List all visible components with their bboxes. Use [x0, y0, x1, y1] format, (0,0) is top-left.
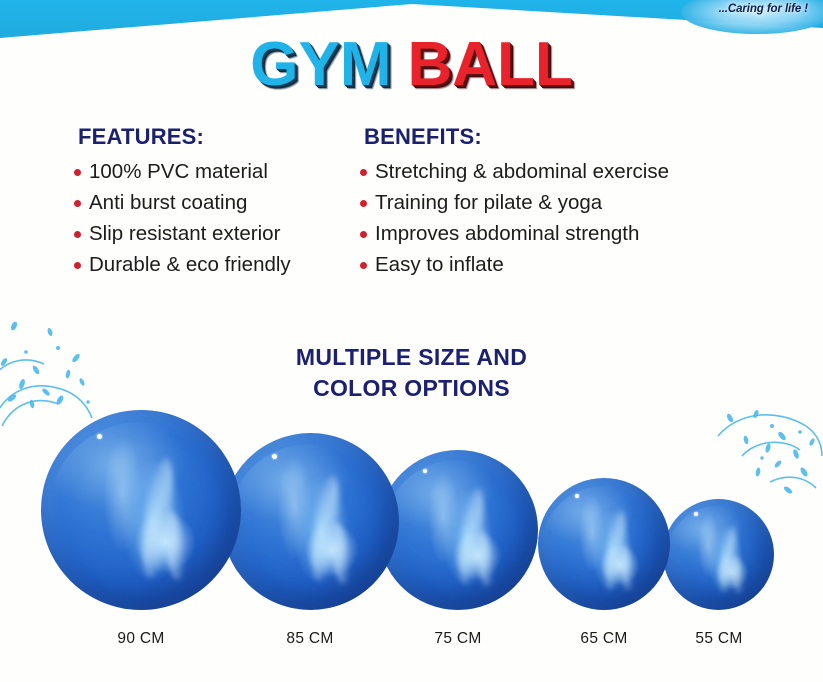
list-item: Anti burst coating: [72, 187, 340, 218]
gym-ball-85cm: [222, 433, 399, 610]
ball-highlight-streak: [730, 554, 744, 593]
gym-ball-poster: ...Caring for life ! GYMBALL FEATURES: 1…: [0, 0, 823, 682]
gym-ball-90cm: [41, 410, 241, 610]
ball-highlight-streak: [474, 529, 495, 586]
benefits-heading: BENEFITS:: [364, 124, 810, 150]
ball-valve-dot: [575, 494, 579, 498]
ball-highlight-streak: [329, 521, 351, 584]
benefits-column: BENEFITS: Stretching & abdominal exercis…: [340, 124, 810, 281]
size-heading-line-1: MULTIPLE SIZE AND: [0, 342, 823, 373]
ball-rim-light: [543, 486, 664, 602]
list-item: Slip resistant exterior: [72, 218, 340, 249]
ball-highlight-streak: [161, 509, 186, 580]
ball-valve-dot: [97, 434, 102, 439]
ball-rim-light: [229, 444, 392, 600]
ball-highlight-streak: [455, 487, 489, 585]
size-label-75cm: 75 CM: [434, 630, 481, 648]
size-label-90cm: 90 CM: [117, 630, 164, 648]
gym-ball-75cm: [378, 450, 538, 610]
ball-valve-dot: [694, 512, 698, 516]
ball-rim-light: [667, 506, 769, 604]
ball-valve-dot: [423, 469, 427, 473]
ball-highlight-streak: [601, 509, 629, 591]
list-item: Stretching & abdominal exercise: [358, 156, 810, 187]
title-word-ball: BALL: [407, 30, 572, 99]
banner-tagline: ...Caring for life !: [712, 1, 815, 18]
list-item: Improves abdominal strength: [358, 218, 810, 249]
features-heading: FEATURES:: [78, 124, 340, 150]
ball-highlight-streak: [716, 525, 739, 592]
ball-highlight-streak: [307, 474, 345, 582]
list-item: Easy to inflate: [358, 249, 810, 280]
list-item: 100% PVC material: [72, 156, 340, 187]
features-list: 100% PVC material Anti burst coating Sli…: [72, 156, 340, 281]
features-column: FEATURES: 100% PVC material Anti burst c…: [0, 124, 340, 281]
ball-rim-light: [49, 422, 233, 598]
size-label-65cm: 65 CM: [580, 630, 627, 648]
gym-ball-65cm: [538, 478, 670, 610]
list-item: Durable & eco friendly: [72, 249, 340, 280]
benefits-list: Stretching & abdominal exercise Training…: [358, 156, 810, 281]
size-label-85cm: 85 CM: [286, 630, 333, 648]
ball-size-lineup: [0, 390, 823, 640]
page-title: GYMBALL: [0, 34, 823, 96]
title-word-gym: GYM: [250, 30, 391, 99]
ball-highlight-streak: [617, 543, 634, 590]
size-label-55cm: 55 CM: [695, 630, 742, 648]
ball-size-labels: 90 CM 85 CM 75 CM 65 CM 55 CM: [0, 630, 823, 656]
ball-rim-light: [384, 460, 531, 601]
list-item: Training for pilate & yoga: [358, 187, 810, 218]
ball-valve-dot: [272, 454, 277, 459]
info-columns: FEATURES: 100% PVC material Anti burst c…: [0, 124, 823, 281]
gym-ball-55cm: [663, 499, 774, 610]
ball-highlight-streak: [137, 457, 179, 579]
